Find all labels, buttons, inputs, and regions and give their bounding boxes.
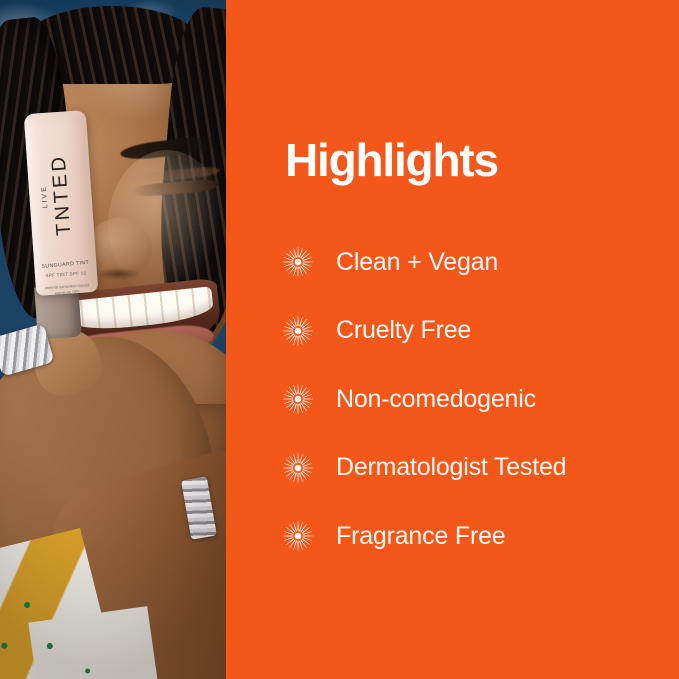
product-brand-text: TNTED xyxy=(47,153,76,236)
lifestyle-photo: TNTED LIVE SUNGUARD TINT SPF TINT SPF 50… xyxy=(0,0,226,679)
product-highlights-banner: TNTED LIVE SUNGUARD TINT SPF TINT SPF 50… xyxy=(0,0,679,679)
highlight-label: Dermatologist Tested xyxy=(336,453,566,482)
nostril xyxy=(96,268,140,280)
highlight-item-non-comedogenic: Non-comedogenic xyxy=(282,365,672,434)
sunburst-icon xyxy=(282,383,314,415)
highlight-item-clean-vegan: Clean + Vegan xyxy=(282,228,672,297)
page-title: Highlights xyxy=(285,137,498,183)
sunburst-icon xyxy=(282,315,314,347)
highlight-item-dermatologist-tested: Dermatologist Tested xyxy=(282,434,672,503)
highlight-label: Clean + Vegan xyxy=(336,248,498,277)
product-brand-wordmark: TNTED xyxy=(31,128,92,261)
highlight-label: Fragrance Free xyxy=(336,522,506,551)
product-spf-text: SPF TINT SPF 50 xyxy=(39,270,93,279)
sunburst-icon xyxy=(282,520,314,552)
highlight-label: Cruelty Free xyxy=(336,316,471,345)
highlight-item-fragrance-free: Fragrance Free xyxy=(282,502,672,571)
sunburst-icon xyxy=(282,246,314,278)
sunburst-icon xyxy=(282,452,314,484)
highlight-label: Non-comedogenic xyxy=(336,385,536,414)
highlight-item-cruelty-free: Cruelty Free xyxy=(282,297,672,366)
highlights-panel: Highlights Clean + Vegan xyxy=(226,0,679,679)
highlights-list: Clean + Vegan Cruelty Free xyxy=(282,228,672,571)
product-tube: TNTED LIVE SUNGUARD TINT SPF TINT SPF 50… xyxy=(24,110,99,296)
